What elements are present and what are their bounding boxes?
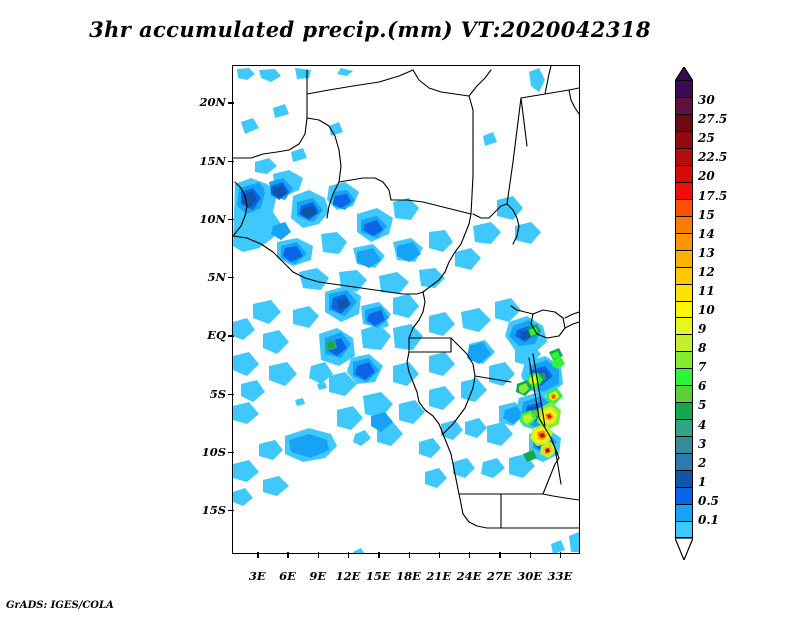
colorbar[interactable]: 3027.52522.52017.51514131211109876543210… <box>675 66 693 552</box>
colorbar-band[interactable] <box>675 368 693 385</box>
x-tick-label: 24E <box>457 569 482 583</box>
colorbar-label: 14 <box>698 227 715 241</box>
x-tick-mark <box>530 552 531 558</box>
y-tick-mark <box>228 452 234 453</box>
colorbar-band[interactable] <box>675 436 693 453</box>
colorbar-band[interactable] <box>675 487 693 504</box>
colorbar-band[interactable] <box>675 521 693 538</box>
colorbar-label: 1 <box>698 475 706 489</box>
colorbar-label: 9 <box>698 322 706 336</box>
y-tick-label: 5S <box>210 387 226 401</box>
colorbar-band[interactable] <box>675 334 693 351</box>
x-tick-mark <box>318 552 319 558</box>
colorbar-label: 13 <box>698 246 715 260</box>
x-tick-label: 18E <box>396 569 421 583</box>
y-tick-mark <box>228 161 234 162</box>
map-plot-area[interactable] <box>232 65 580 554</box>
x-tick-mark <box>287 552 288 558</box>
colorbar-band[interactable] <box>675 419 693 436</box>
page-title: 3hr accumulated precip.(mm) VT:202004231… <box>0 17 740 42</box>
grads-credit: GrADS: IGES/COLA <box>6 600 114 611</box>
y-tick-mark <box>228 394 234 395</box>
x-tick-label: 12E <box>336 569 361 583</box>
colorbar-label: 11 <box>698 284 715 298</box>
colorbar-label: 10 <box>698 303 715 317</box>
colorbar-label: 30 <box>698 93 715 107</box>
colorbar-band[interactable] <box>675 199 693 216</box>
colorbar-label: 17.5 <box>698 189 727 203</box>
colorbar-band[interactable] <box>675 470 693 487</box>
colorbar-band[interactable] <box>675 182 693 199</box>
colorbar-label: 3 <box>698 437 706 451</box>
x-tick-mark <box>409 552 410 558</box>
colorbar-band[interactable] <box>675 301 693 318</box>
colorbar-band[interactable] <box>675 385 693 402</box>
y-tick-label: 10N <box>199 212 226 226</box>
y-tick-mark <box>228 277 234 278</box>
x-tick-mark <box>378 552 379 558</box>
x-tick-label: 27E <box>487 569 512 583</box>
colorbar-label: 0.1 <box>698 513 719 527</box>
colorbar-band[interactable] <box>675 402 693 419</box>
x-tick-label: 33E <box>547 569 572 583</box>
colorbar-band[interactable] <box>675 267 693 284</box>
colorbar-band[interactable] <box>675 165 693 182</box>
y-tick-mark <box>228 510 234 511</box>
colorbar-label: 0.5 <box>698 494 719 508</box>
x-axis: 3E6E9E12E15E18E21E24E27E30E33E <box>0 560 800 580</box>
colorbar-label: 2 <box>698 456 706 470</box>
colorbar-top-arrow <box>675 66 693 80</box>
colorbar-label: 20 <box>698 169 715 183</box>
y-tick-label: EQ <box>207 328 226 342</box>
x-tick-label: 6E <box>279 569 296 583</box>
x-tick-label: 9E <box>309 569 326 583</box>
colorbar-label: 5 <box>698 398 706 412</box>
colorbar-band[interactable] <box>675 250 693 267</box>
colorbar-label: 4 <box>698 418 706 432</box>
colorbar-band[interactable] <box>675 233 693 250</box>
x-tick-label: 30E <box>517 569 542 583</box>
y-axis: 20N15N10N5NEQ5S10S15S <box>170 0 226 618</box>
x-tick-mark <box>439 552 440 558</box>
colorbar-band[interactable] <box>675 284 693 301</box>
y-tick-mark <box>228 335 234 336</box>
colorbar-label: 27.5 <box>698 112 727 126</box>
x-tick-mark <box>257 552 258 558</box>
x-tick-label: 21E <box>426 569 451 583</box>
colorbar-band[interactable] <box>675 453 693 470</box>
y-tick-label: 15S <box>202 503 226 517</box>
colorbar-band[interactable] <box>675 80 693 97</box>
y-tick-label: 15N <box>199 154 226 168</box>
colorbar-bottom-arrow <box>675 538 693 560</box>
y-tick-mark <box>228 219 234 220</box>
x-tick-mark <box>499 552 500 558</box>
colorbar-band[interactable] <box>675 148 693 165</box>
x-tick-label: 15E <box>366 569 391 583</box>
colorbar-band[interactable] <box>675 504 693 521</box>
y-tick-label: 5N <box>207 270 226 284</box>
colorbar-label: 7 <box>698 360 706 374</box>
y-tick-label: 10S <box>202 445 226 459</box>
y-tick-label: 20N <box>199 95 226 109</box>
colorbar-label: 25 <box>698 131 715 145</box>
colorbar-band[interactable] <box>675 216 693 233</box>
colorbar-band[interactable] <box>675 97 693 114</box>
colorbar-band[interactable] <box>675 351 693 368</box>
colorbar-label: 8 <box>698 341 706 355</box>
colorbar-band[interactable] <box>675 317 693 334</box>
colorbar-label: 22.5 <box>698 150 727 164</box>
colorbar-label: 12 <box>698 265 715 279</box>
colorbar-band[interactable] <box>675 131 693 148</box>
precipitation-map <box>233 66 579 553</box>
colorbar-label: 15 <box>698 208 715 222</box>
x-tick-mark <box>469 552 470 558</box>
colorbar-band[interactable] <box>675 114 693 131</box>
x-tick-label: 3E <box>249 569 266 583</box>
y-tick-mark <box>228 102 234 103</box>
grads-figure: 3hr accumulated precip.(mm) VT:202004231… <box>0 0 800 618</box>
colorbar-label: 6 <box>698 379 706 393</box>
x-tick-mark <box>348 552 349 558</box>
x-tick-mark <box>560 552 561 558</box>
